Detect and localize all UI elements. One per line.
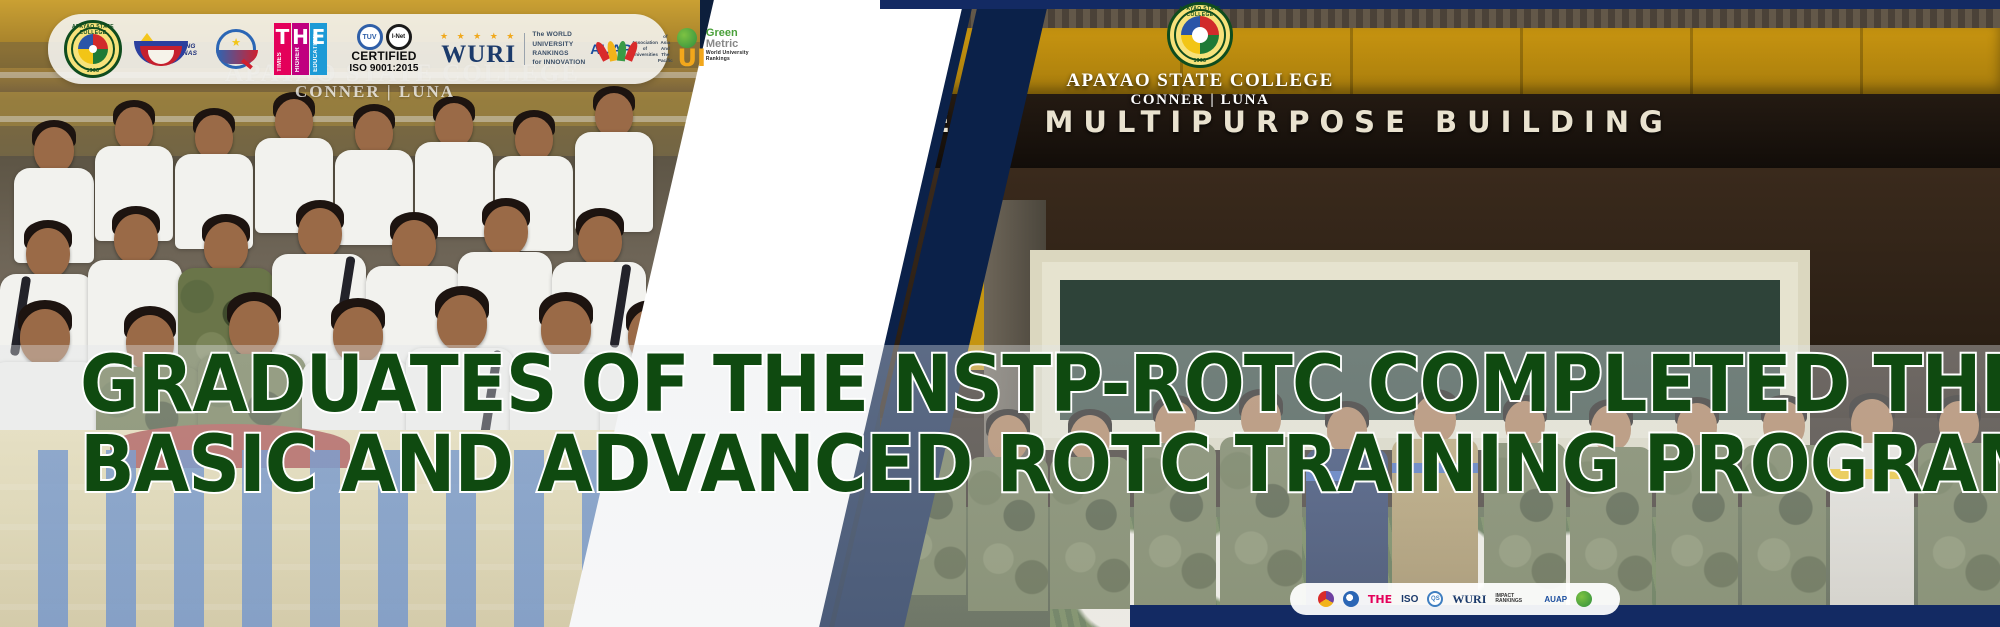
mini-ui-greenmetric-icon: [1576, 591, 1592, 607]
wuri-wordmark: WURI: [440, 42, 517, 67]
footer-accreditation-strip: THE ISO QS WURI IMPACT RANKINGS AUAP: [1290, 583, 1620, 615]
uigm-ui-wordmark: UI: [677, 48, 705, 70]
wuri-ranking-icon: ★ ★ ★ ★ ★ WURI The WORLD UNIVERSITY RANK…: [440, 30, 585, 68]
uigm-desc: World University Rankings: [706, 50, 774, 62]
headline-line-1: GRADUATES OF THE NSTP-ROTC COMPLETED THE…: [80, 348, 1920, 422]
ui-greenmetric-icon: UI Green Metric World University Ranking…: [677, 28, 773, 70]
the-bar1-label: TIMES: [277, 52, 283, 72]
auap-icon: AUAP Association of Universities of Asia…: [595, 34, 667, 64]
wuri-divider: [524, 33, 525, 65]
apsc-news-banner: EKB MULTIPURPOSE BUILDING: [0, 0, 2000, 627]
facade-joint: [1690, 28, 1693, 94]
apsc-seal-icon: APAYAO STATE COLLEGE 1998: [64, 20, 122, 78]
mini-wuri-icon: WURI: [1452, 592, 1486, 607]
seal-top-text: APAYAO STATE COLLEGE: [67, 24, 119, 36]
wuri-desc-2: UNIVERSITY: [532, 40, 585, 49]
overlay-institution-name: APAYAO STATE COLLEGE: [1020, 70, 1380, 92]
facade-joint: [1520, 28, 1523, 94]
mini-impact-label: IMPACT RANKINGS: [1495, 594, 1535, 605]
mini-impact-rankings-icon: IMPACT RANKINGS: [1495, 594, 1535, 605]
iso-mark-inet: I-Net: [386, 24, 412, 50]
mini-qs-icon: QS: [1427, 591, 1443, 607]
the-bar2-label: HIGHER: [295, 47, 301, 72]
right-photo-identity-overlay: APAYAO STATE COLLEGE 1998 APAYAO STATE C…: [1020, 0, 1380, 109]
overlay-campus-name: CONNER | LUNA: [1020, 92, 1380, 109]
auap-desc-2: of Asia And The Pacific: [658, 34, 673, 64]
philippine-quality-award-icon: ★: [208, 21, 264, 77]
iso-certified-label: CERTIFIED: [351, 50, 416, 63]
overlay-seal-year-text: 1998: [1170, 58, 1230, 64]
mini-auap-icon: AUAP: [1544, 595, 1567, 604]
iso-certified-icon: TUV I-Net CERTIFIED ISO 9001:2015: [338, 24, 430, 74]
seal-year-text: 1998: [67, 68, 119, 74]
iso-mark-tuv: TUV: [357, 24, 383, 50]
mini-the-icon: THE: [1368, 593, 1392, 606]
the-bar3-label: EDUCATION: [313, 34, 319, 72]
overlay-seal-top-text: APAYAO STATE COLLEGE: [1170, 6, 1230, 18]
mini-pqa-icon: [1343, 591, 1359, 607]
wuri-desc-1: The WORLD: [532, 30, 585, 39]
iso-standard-label: ISO 9001:2015: [349, 63, 418, 74]
headline-line-2: BASIC AND ADVANCED ROTC TRAINING PROGRAM: [80, 428, 1920, 502]
mini-bagong-pilipinas-icon: [1318, 591, 1334, 607]
headline: GRADUATES OF THE NSTP-ROTC COMPLETED THE…: [80, 348, 1920, 502]
building-sign-text: EKB MULTIPURPOSE BUILDING: [930, 105, 1673, 139]
times-higher-education-icon: TTIMES HHIGHER EEDUCATION: [274, 23, 328, 75]
facade-joint: [1860, 28, 1863, 94]
bagong-pilipinas-icon: BAGONG PILIPINAS: [132, 31, 198, 67]
wuri-desc-4: for INNOVATION: [532, 58, 585, 67]
accreditation-logo-bar: APAYAO STATE COLLEGE 1998 BAGONG PILIPIN…: [48, 14, 668, 84]
uigm-metric-label: Metric: [706, 39, 774, 50]
apsc-seal-overlay-icon: APAYAO STATE COLLEGE 1998: [1020, 2, 1380, 68]
wuri-desc-3: RANKINGS: [532, 49, 585, 58]
mini-iso-icon: ISO: [1401, 594, 1418, 605]
